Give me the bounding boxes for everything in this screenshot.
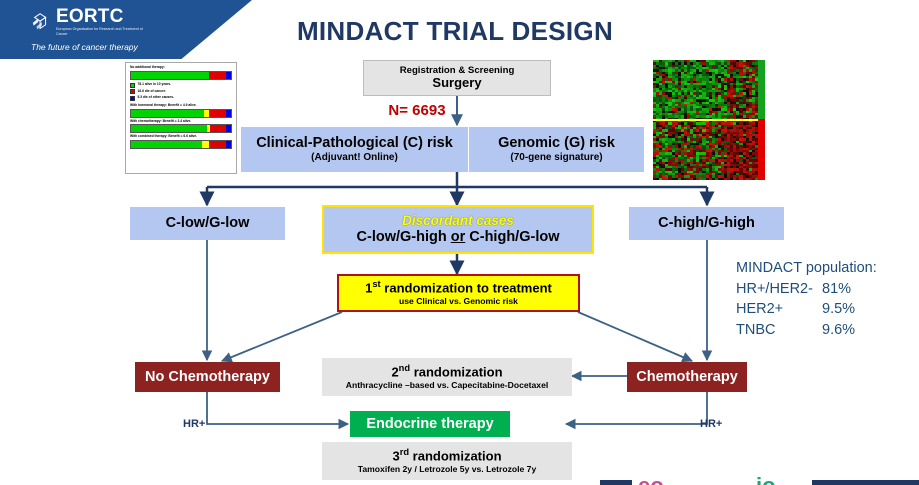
population-key: HR+/HER2-: [736, 279, 822, 300]
legend-label-other-death: 5.3 die of other causes.: [138, 96, 174, 100]
c-high-g-high-label: C-high/G-high: [658, 215, 755, 232]
chemotherapy-label: Chemotherapy: [636, 369, 738, 386]
discordant-sub-or: or: [451, 229, 466, 245]
c-low-g-low-label: C-low/G-low: [166, 215, 250, 232]
legend-label-alive: 78.1 alive in 10 years.: [138, 83, 172, 87]
footer-logo-pink: eo: [638, 473, 664, 485]
mindact-population-stats: MINDACT population: HR+/HER2- 81% HER2+ …: [736, 258, 916, 340]
population-title: MINDACT population:: [736, 258, 916, 279]
legend-swatch-alive-icon: [130, 83, 135, 88]
heatmap-divider: [653, 119, 758, 121]
legend-row: 5.3 die of other causes.: [130, 96, 232, 101]
legend-swatch-other-death-icon: [130, 96, 135, 101]
second-randomization-box[interactable]: 2nd randomization Anthracycline –based v…: [322, 358, 572, 396]
footer-logo-green: io: [756, 473, 776, 485]
adjuvant-bar-2: [130, 124, 232, 133]
hr-positive-left-label: HR+: [183, 418, 205, 430]
no-chemotherapy-box[interactable]: No Chemotherapy: [135, 362, 280, 392]
discordant-cases-box[interactable]: Discordant cases C-low/G-high or C-high/…: [322, 205, 594, 254]
rand2-ordinal: nd: [399, 363, 410, 373]
population-row: HR+/HER2- 81%: [736, 279, 916, 300]
heatmap-poor-prognosis-bar: [758, 119, 765, 180]
legend-label-cancer-death: 16.6 die of cancer.: [138, 90, 166, 94]
rand1-ordinal: st: [372, 279, 380, 289]
logo-tagline: The future of cancer therapy: [31, 42, 200, 52]
registration-line-2: Surgery: [432, 76, 481, 91]
adjuvant-bar-1: [130, 109, 232, 118]
c-high-g-high-box[interactable]: C-high/G-high: [629, 207, 784, 240]
population-value: 9.6%: [822, 320, 855, 341]
rand2-num: 2: [391, 365, 398, 380]
adjuvant-bar-3: [130, 140, 232, 149]
logo-subtitle: European Organisation for Research and T…: [56, 27, 151, 37]
discordant-sub-pre: C-low/G-high: [357, 229, 451, 245]
legend-row: 78.1 alive in 10 years.: [130, 83, 232, 88]
adjuvant-online-graphic: No additional therapy: 78.1 alive in 10 …: [125, 62, 237, 174]
discordant-sub-post: C-high/G-low: [465, 229, 559, 245]
clinical-pathological-risk-box[interactable]: Clinical-Pathological (C) risk (Adjuvant…: [241, 127, 468, 172]
eortc-mark-icon: [30, 11, 52, 33]
rand2-title: 2nd randomization: [391, 363, 502, 380]
chemotherapy-box[interactable]: Chemotherapy: [627, 362, 747, 392]
rand3-sub: Tamoxifen 2y / Letrozole 5y vs. Letrozol…: [358, 464, 536, 474]
adjuvant-bar-0: [130, 71, 232, 80]
rand1-title: 1st randomization to treatment: [365, 279, 552, 296]
genomic-risk-sub: (70-gene signature): [510, 152, 602, 164]
heatmap-canvas: [653, 60, 758, 180]
footer-rule-left: [600, 480, 632, 485]
clinical-risk-title: Clinical-Pathological (C) risk: [256, 135, 453, 152]
population-value: 81%: [822, 279, 851, 300]
rand3-title-rest: randomization: [409, 449, 501, 464]
registration-screening-box[interactable]: Registration & Screening Surgery: [363, 60, 551, 96]
heatmap-good-prognosis-bar: [758, 60, 765, 119]
population-key: HER2+: [736, 299, 822, 320]
discordant-subtitle: C-low/G-high or C-high/G-low: [357, 229, 560, 246]
page-title: MINDACT TRIAL DESIGN: [255, 16, 655, 47]
eortc-logo: EORTC European Organisation for Research…: [30, 7, 200, 51]
c-low-g-low-box[interactable]: C-low/G-low: [130, 207, 285, 240]
rand2-title-rest: randomization: [410, 365, 502, 380]
slide-canvas: EORTC European Organisation for Research…: [0, 0, 919, 485]
genomic-risk-box[interactable]: Genomic (G) risk (70-gene signature): [469, 127, 644, 172]
hr-positive-right-label: HR+: [700, 418, 722, 430]
population-row: HER2+ 9.5%: [736, 299, 916, 320]
adjuvant-line-1: With hormonal therapy: Benefit = 4.9 ali…: [130, 104, 232, 108]
rand3-title: 3rd randomization: [392, 447, 501, 464]
adjuvant-line-2: With chemotherapy: Benefit = 2.4 alive.: [130, 120, 232, 124]
adjuvant-line-0: No additional therapy:: [130, 66, 232, 70]
logo-name: EORTC: [56, 7, 151, 26]
footer-partner-logo: eo io: [638, 473, 806, 485]
clinical-risk-sub: (Adjuvant! Online): [311, 152, 398, 164]
rand2-sub: Anthracycline –based vs. Capecitabine-Do…: [346, 380, 549, 390]
adjuvant-legend: 78.1 alive in 10 years. 16.6 die of canc…: [130, 83, 232, 101]
no-chemotherapy-label: No Chemotherapy: [145, 369, 270, 386]
70-gene-signature-heatmap: [653, 60, 765, 180]
enrollment-count: N= 6693: [357, 102, 477, 119]
genomic-risk-title: Genomic (G) risk: [498, 135, 615, 152]
population-key: TNBC: [736, 320, 822, 341]
discordant-title: Discordant cases: [402, 213, 514, 229]
legend-swatch-cancer-death-icon: [130, 89, 135, 94]
rand1-title-rest: randomization to treatment: [381, 281, 552, 296]
footer-rule-right: [812, 480, 919, 485]
endocrine-therapy-box[interactable]: Endocrine therapy: [350, 411, 510, 437]
adjuvant-line-3: With combined therapy: Benefit = 6.6 ali…: [130, 135, 232, 139]
endocrine-therapy-label: Endocrine therapy: [366, 416, 493, 433]
rand1-sub: use Clinical vs. Genomic risk: [399, 296, 518, 306]
legend-row: 16.6 die of cancer.: [130, 89, 232, 94]
population-value: 9.5%: [822, 299, 855, 320]
third-randomization-box[interactable]: 3rd randomization Tamoxifen 2y / Letrozo…: [322, 442, 572, 480]
heatmap-sidebar: [758, 60, 765, 180]
rand3-ordinal: rd: [400, 447, 409, 457]
rand3-num: 3: [392, 449, 399, 464]
first-randomization-box[interactable]: 1st randomization to treatment use Clini…: [337, 274, 580, 312]
population-row: TNBC 9.6%: [736, 320, 916, 341]
